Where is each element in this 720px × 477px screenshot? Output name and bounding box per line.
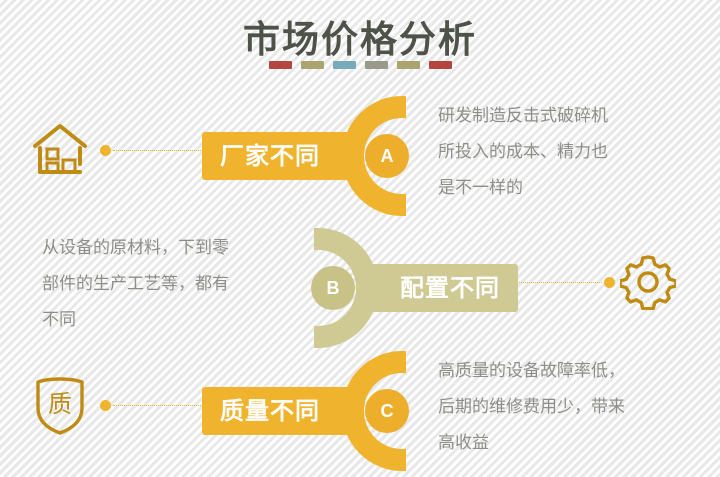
badge-bar-b: 配置不同 xyxy=(362,264,518,312)
badge-c[interactable]: 质量不同 C xyxy=(202,351,414,471)
title-dash-3 xyxy=(365,61,388,69)
title-dash-row xyxy=(0,61,720,69)
badge-label-b: 配置不同 xyxy=(400,276,500,300)
badge-bar-c: 质量不同 xyxy=(202,387,358,435)
shield-char: 质 xyxy=(48,390,72,418)
description-b: 从设备的原材料，下到零 部件的生产工艺等，都有 不同 xyxy=(42,230,280,338)
connector-dot xyxy=(604,277,615,288)
badge-bar-a: 厂家不同 xyxy=(202,132,358,180)
description-line: 后期的维修费用少，带来 xyxy=(438,389,676,425)
house-icon-svg xyxy=(31,122,89,178)
connector-line-a xyxy=(100,145,205,156)
section-row-a: 厂家不同 A 研发制造反击式破碎机 所投入的成本、精力也 是不一样的 xyxy=(0,90,720,220)
title-dash-5 xyxy=(429,61,452,69)
badge-letter-a: A xyxy=(365,134,409,178)
section-row-b: 配置不同 B 从设备的原材料，下到零 部件的生产工艺等，都有 不同 xyxy=(0,222,720,352)
connector-dot xyxy=(100,400,111,411)
connector-dotted-line xyxy=(517,282,602,283)
connector-line-b xyxy=(515,277,615,288)
badge-letter-b: B xyxy=(311,266,355,310)
title-dash-2 xyxy=(333,61,356,69)
connector-dot xyxy=(100,145,111,156)
section-row-c: 质 质量不同 C 高质量的设备故障率低， 后期的维修费用少，带来 高收益 xyxy=(0,345,720,475)
connector-line-c xyxy=(100,400,205,411)
badge-label-c: 质量不同 xyxy=(220,399,320,423)
description-line: 从设备的原材料，下到零 xyxy=(42,230,280,266)
shield-quality-icon: 质 xyxy=(20,365,100,445)
connector-dotted-line xyxy=(113,405,203,406)
title-dash-0 xyxy=(269,61,292,69)
gear-icon-svg xyxy=(620,254,676,310)
page-title: 市场价格分析 xyxy=(0,9,720,63)
badge-a[interactable]: 厂家不同 A xyxy=(202,96,414,216)
description-line: 不同 xyxy=(42,302,280,338)
house-icon xyxy=(20,110,100,190)
description-line: 研发制造反击式破碎机 xyxy=(438,98,676,134)
gear-icon xyxy=(608,242,688,322)
description-a: 研发制造反击式破碎机 所投入的成本、精力也 是不一样的 xyxy=(438,98,676,206)
badge-letter-c: C xyxy=(365,389,409,433)
description-line: 高质量的设备故障率低， xyxy=(438,353,676,389)
title-dash-4 xyxy=(397,61,420,69)
description-line: 部件的生产工艺等，都有 xyxy=(42,266,280,302)
connector-dotted-line xyxy=(113,150,203,151)
badge-label-a: 厂家不同 xyxy=(220,144,320,168)
description-line: 高收益 xyxy=(438,425,676,461)
badge-b[interactable]: 配置不同 B xyxy=(306,228,518,348)
header: 市场价格分析 xyxy=(0,0,720,85)
shield-quality-icon-svg: 质 xyxy=(33,374,87,436)
title-dash-1 xyxy=(301,61,324,69)
description-line: 是不一样的 xyxy=(438,170,676,206)
description-line: 所投入的成本、精力也 xyxy=(438,134,676,170)
description-c: 高质量的设备故障率低， 后期的维修费用少，带来 高收益 xyxy=(438,353,676,461)
